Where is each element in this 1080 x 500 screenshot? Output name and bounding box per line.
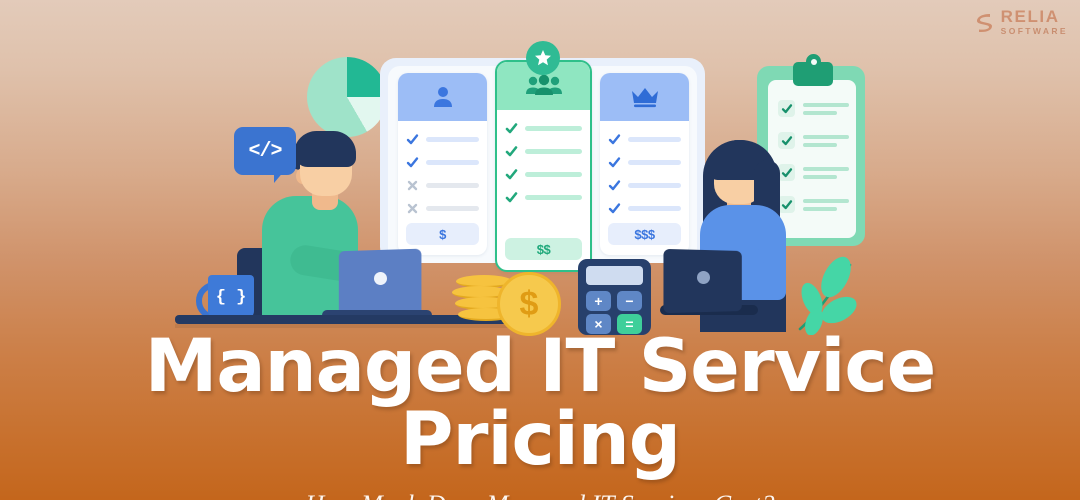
laptop-logo-dot	[697, 271, 710, 284]
pie-chart-icon	[307, 57, 387, 137]
cross-icon	[406, 202, 419, 215]
feature-row	[505, 191, 582, 204]
mug-text: { }	[216, 288, 247, 307]
cross-icon	[406, 179, 419, 192]
checklist-row	[778, 100, 849, 117]
checkbox	[778, 164, 795, 181]
calculator-key-minus[interactable]: −	[617, 291, 642, 311]
feature-row	[406, 179, 479, 192]
feature-bar	[628, 183, 681, 188]
code-bubble-text: </>	[248, 140, 281, 163]
group-icon	[524, 74, 564, 98]
coin-symbol: $	[520, 287, 539, 321]
brand-tagline: SOFTWARE	[1001, 27, 1068, 36]
check-icon	[505, 191, 518, 204]
brand-name: RELIA	[1001, 8, 1068, 25]
feature-row	[608, 156, 681, 169]
feature-row	[608, 133, 681, 146]
checkbox	[778, 132, 795, 149]
feature-row	[406, 202, 479, 215]
feature-bar	[426, 137, 479, 142]
feature-bar	[628, 206, 681, 211]
feature-row	[406, 133, 479, 146]
check-icon	[608, 202, 621, 215]
code-tag-icon: </>	[234, 127, 296, 175]
feature-row	[505, 145, 582, 158]
feature-bar	[525, 172, 582, 177]
check-icon	[781, 167, 793, 179]
coffee-mug-icon: { }	[208, 275, 254, 319]
check-icon	[505, 168, 518, 181]
price-badge-team[interactable]: $$	[505, 238, 582, 260]
pricing-card-team[interactable]: $$	[495, 60, 592, 272]
feature-row	[608, 202, 681, 215]
feature-list-premium	[600, 121, 689, 215]
person-icon	[430, 85, 456, 109]
pricing-card-premium[interactable]: $$$	[600, 73, 689, 255]
pricing-card-basic[interactable]: $	[398, 73, 487, 255]
laptop-logo-dot	[374, 272, 387, 285]
feature-list-basic	[398, 121, 487, 215]
feature-row	[608, 179, 681, 192]
feature-bar	[628, 160, 681, 165]
brand-wordmark: RELIA SOFTWARE	[1001, 8, 1068, 36]
calculator-screen	[586, 266, 643, 285]
page-title: Managed IT Service Pricing	[0, 330, 1080, 476]
leaf-icon	[792, 255, 872, 335]
clipboard-ring	[806, 54, 821, 69]
check-icon	[406, 133, 419, 146]
developer-hair	[294, 131, 356, 167]
hero-text-block: Managed IT Service Pricing How Much Does…	[0, 330, 1080, 500]
checklist-row	[778, 196, 849, 213]
crown-icon	[630, 85, 660, 109]
brand-logo[interactable]: RELIA SOFTWARE	[973, 8, 1068, 36]
calculator-key-plus[interactable]: +	[586, 291, 611, 311]
checklist-row	[778, 132, 849, 149]
hero-banner: RELIA SOFTWARE	[0, 0, 1080, 500]
check-icon	[608, 179, 621, 192]
feature-bar	[525, 195, 582, 200]
check-icon	[781, 135, 793, 147]
feature-bar	[426, 183, 479, 188]
checklist-row	[778, 164, 849, 181]
card-header-basic	[398, 73, 487, 121]
feature-bar	[628, 137, 681, 142]
page-subtitle: How Much Does Managed IT Services Cost?	[0, 490, 1080, 500]
relia-s-mark-icon	[973, 11, 995, 33]
check-icon	[406, 156, 419, 169]
check-icon	[608, 156, 621, 169]
check-icon	[781, 103, 793, 115]
check-icon	[505, 145, 518, 158]
feature-row	[505, 122, 582, 135]
checkbox	[778, 100, 795, 117]
feature-list-team	[497, 110, 590, 204]
feature-bar	[426, 160, 479, 165]
featured-star-badge	[526, 41, 560, 75]
card-header-premium	[600, 73, 689, 121]
price-badge-basic[interactable]: $	[406, 223, 479, 245]
feature-bar	[426, 206, 479, 211]
star-icon	[534, 49, 552, 67]
feature-bar	[525, 149, 582, 154]
check-icon	[505, 122, 518, 135]
feature-row	[505, 168, 582, 181]
check-icon	[781, 199, 793, 211]
feature-bar	[525, 126, 582, 131]
check-icon	[608, 133, 621, 146]
checkbox	[778, 196, 795, 213]
price-badge-premium[interactable]: $$$	[608, 223, 681, 245]
feature-row	[406, 156, 479, 169]
